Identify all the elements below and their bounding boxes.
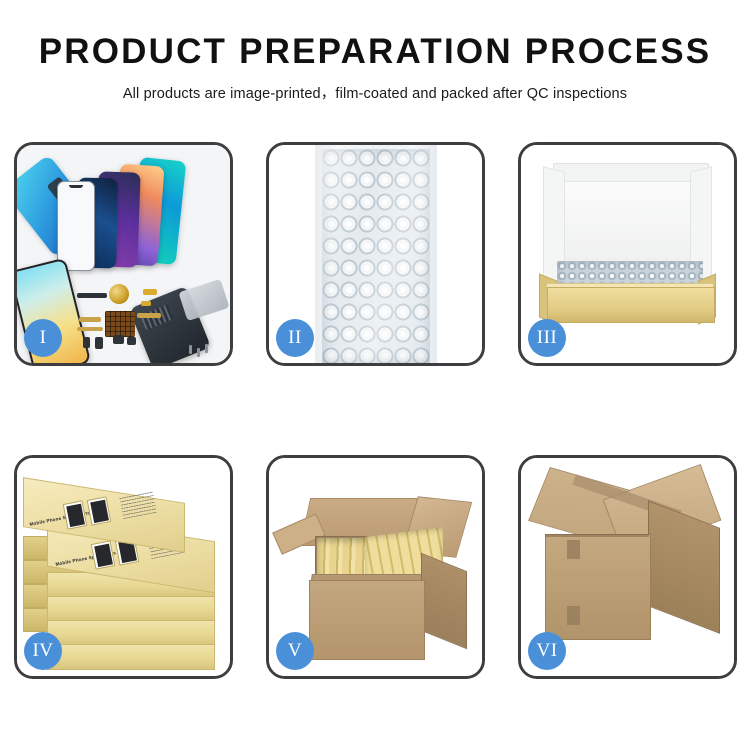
stack-box-f3-icon (47, 620, 215, 646)
sealed-carton-front-face-icon (545, 534, 651, 640)
process-step-2: II (266, 142, 485, 366)
antenna-strip-icon (77, 293, 107, 298)
page-title: PRODUCT PREPARATION PROCESS (0, 34, 750, 71)
speaker-coil-icon (109, 284, 129, 304)
plastic-sheen-icon (322, 149, 430, 363)
stack-box-f2-icon (47, 596, 215, 622)
screw-1-icon (189, 345, 192, 354)
ribbon-cable-2-icon (77, 327, 103, 331)
process-step-6: VI (518, 455, 737, 679)
step-badge-3: III (528, 319, 566, 357)
box-front-icon (547, 287, 715, 323)
battery-connector-icon (95, 337, 103, 349)
header: PRODUCT PREPARATION PROCESS All products… (0, 0, 750, 103)
ic-chip-grid-icon (105, 311, 135, 337)
flex-connector-icon (143, 289, 157, 295)
sealed-carton-top-edge-icon (545, 534, 649, 537)
stack-box-f4-icon (47, 644, 215, 670)
step-badge-4: IV (24, 632, 62, 670)
carton-seam-upper-icon (567, 540, 580, 559)
process-step-3: III (518, 142, 737, 366)
carton-right-face-icon (421, 553, 467, 650)
product-preparation-infographic: PRODUCT PREPARATION PROCESS All products… (0, 0, 750, 750)
small-flex-icon (141, 301, 151, 306)
step-badge-5: V (276, 632, 314, 670)
repair-tool-icon (178, 279, 229, 321)
step-badge-1: I (24, 319, 62, 357)
step-badge-6: VI (528, 632, 566, 670)
carton-seam-lower-icon (567, 606, 580, 625)
process-step-4: Mobile Phone Spare Parts Mobile Phone Sp… (14, 455, 233, 679)
ribbon-cable-icon (79, 317, 101, 322)
carton-front-face-icon (309, 580, 425, 660)
step-badge-2: II (276, 319, 314, 357)
screen-protector-icon (57, 181, 95, 271)
page-subtitle: All products are image-printed，film-coat… (0, 82, 750, 103)
process-step-grid: I II III (14, 142, 737, 679)
ribbon-cable-3-icon (137, 313, 161, 318)
sim-tray-icon (83, 337, 90, 348)
camera-module-icon (127, 337, 136, 345)
process-step-1: I (14, 142, 233, 366)
vibration-motor-icon (113, 335, 124, 344)
process-step-5: V (266, 455, 485, 679)
screw-3-icon (205, 344, 208, 353)
screw-2-icon (197, 348, 200, 357)
